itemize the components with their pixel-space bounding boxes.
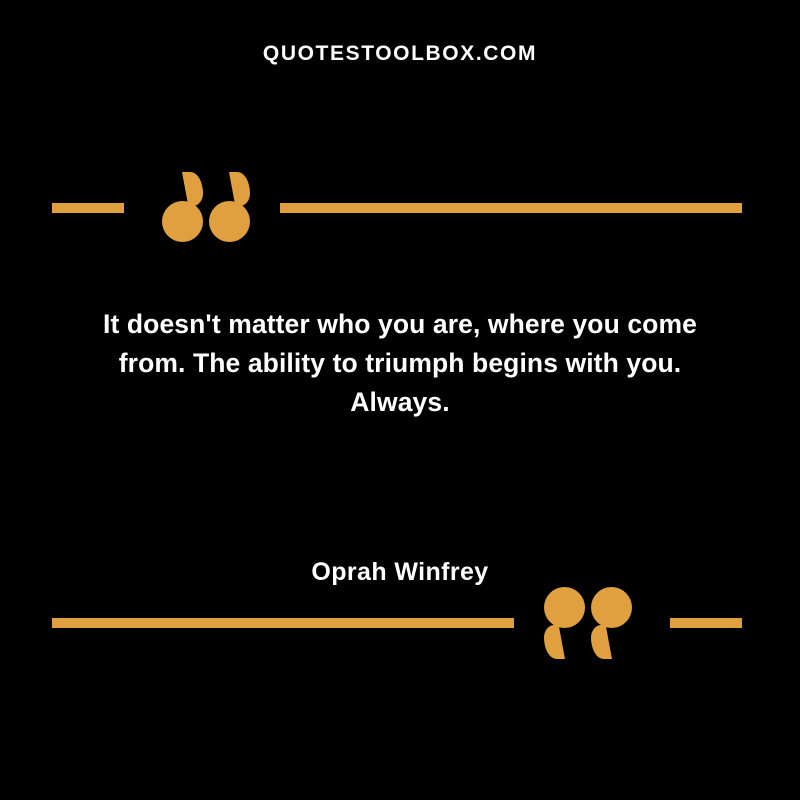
close-quote-mark-icon bbox=[544, 587, 632, 659]
open-quote-comma-right bbox=[209, 172, 250, 244]
bottom-ornament-row bbox=[0, 578, 800, 668]
quote-card: QUOTESTOOLBOX.COM It doesn't matter who … bbox=[0, 0, 800, 800]
open-quote-comma-left bbox=[162, 172, 203, 244]
divider-rule-long-left bbox=[52, 618, 514, 628]
site-brand: QUOTESTOOLBOX.COM bbox=[0, 42, 800, 65]
close-quote-comma-left bbox=[544, 587, 585, 659]
divider-rule-long-right bbox=[280, 203, 742, 213]
divider-rule-short-left bbox=[52, 203, 124, 213]
open-quote-mark-icon bbox=[162, 172, 250, 244]
quote-text: It doesn't matter who you are, where you… bbox=[100, 305, 700, 423]
close-quote-comma-right bbox=[591, 587, 632, 659]
top-ornament-row bbox=[0, 163, 800, 253]
divider-rule-short-right bbox=[670, 618, 742, 628]
